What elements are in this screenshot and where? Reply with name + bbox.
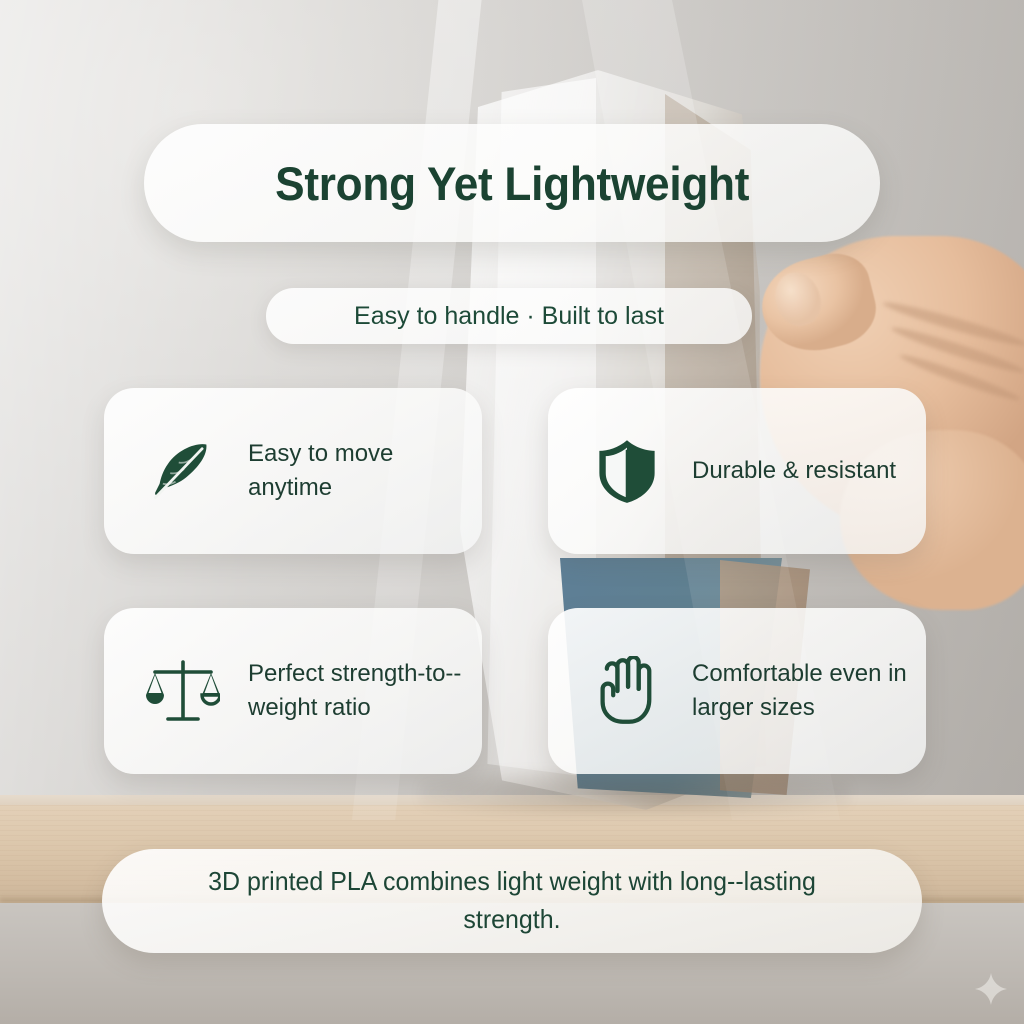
feature-card-label: Easy to move anytime bbox=[248, 437, 464, 505]
hand-icon bbox=[588, 652, 666, 730]
feature-card-strength-ratio[interactable]: Perfect strength-to--weight ratio bbox=[104, 608, 482, 774]
sparkle-icon bbox=[974, 972, 1008, 1006]
page-subtitle: Easy to handle · Built to last bbox=[354, 302, 664, 331]
feather-icon bbox=[144, 432, 222, 510]
footer-pill: 3D printed PLA combines light weight wit… bbox=[102, 849, 922, 953]
promo-graphic: Strong Yet Lightweight Easy to handle · … bbox=[0, 0, 1024, 1024]
title-pill: Strong Yet Lightweight bbox=[144, 124, 880, 242]
page-title: Strong Yet Lightweight bbox=[275, 156, 749, 211]
feature-card-durable[interactable]: Durable & resistant bbox=[548, 388, 926, 554]
feature-card-easy-to-move[interactable]: Easy to move anytime bbox=[104, 388, 482, 554]
feature-card-comfortable[interactable]: Comfortable even in larger sizes bbox=[548, 608, 926, 774]
feature-card-label: Perfect strength-to--weight ratio bbox=[248, 657, 464, 725]
subtitle-pill: Easy to handle · Built to last bbox=[266, 288, 752, 344]
footer-caption: 3D printed PLA combines light weight wit… bbox=[195, 863, 829, 939]
feature-card-label: Comfortable even in larger sizes bbox=[692, 657, 908, 725]
overlay-ui: Strong Yet Lightweight Easy to handle · … bbox=[0, 0, 1024, 1024]
balance-scale-icon bbox=[144, 652, 222, 730]
shield-icon bbox=[588, 432, 666, 510]
feature-card-label: Durable & resistant bbox=[692, 454, 896, 488]
feature-card-grid: Easy to move anytime Durable & resistant bbox=[104, 388, 926, 774]
